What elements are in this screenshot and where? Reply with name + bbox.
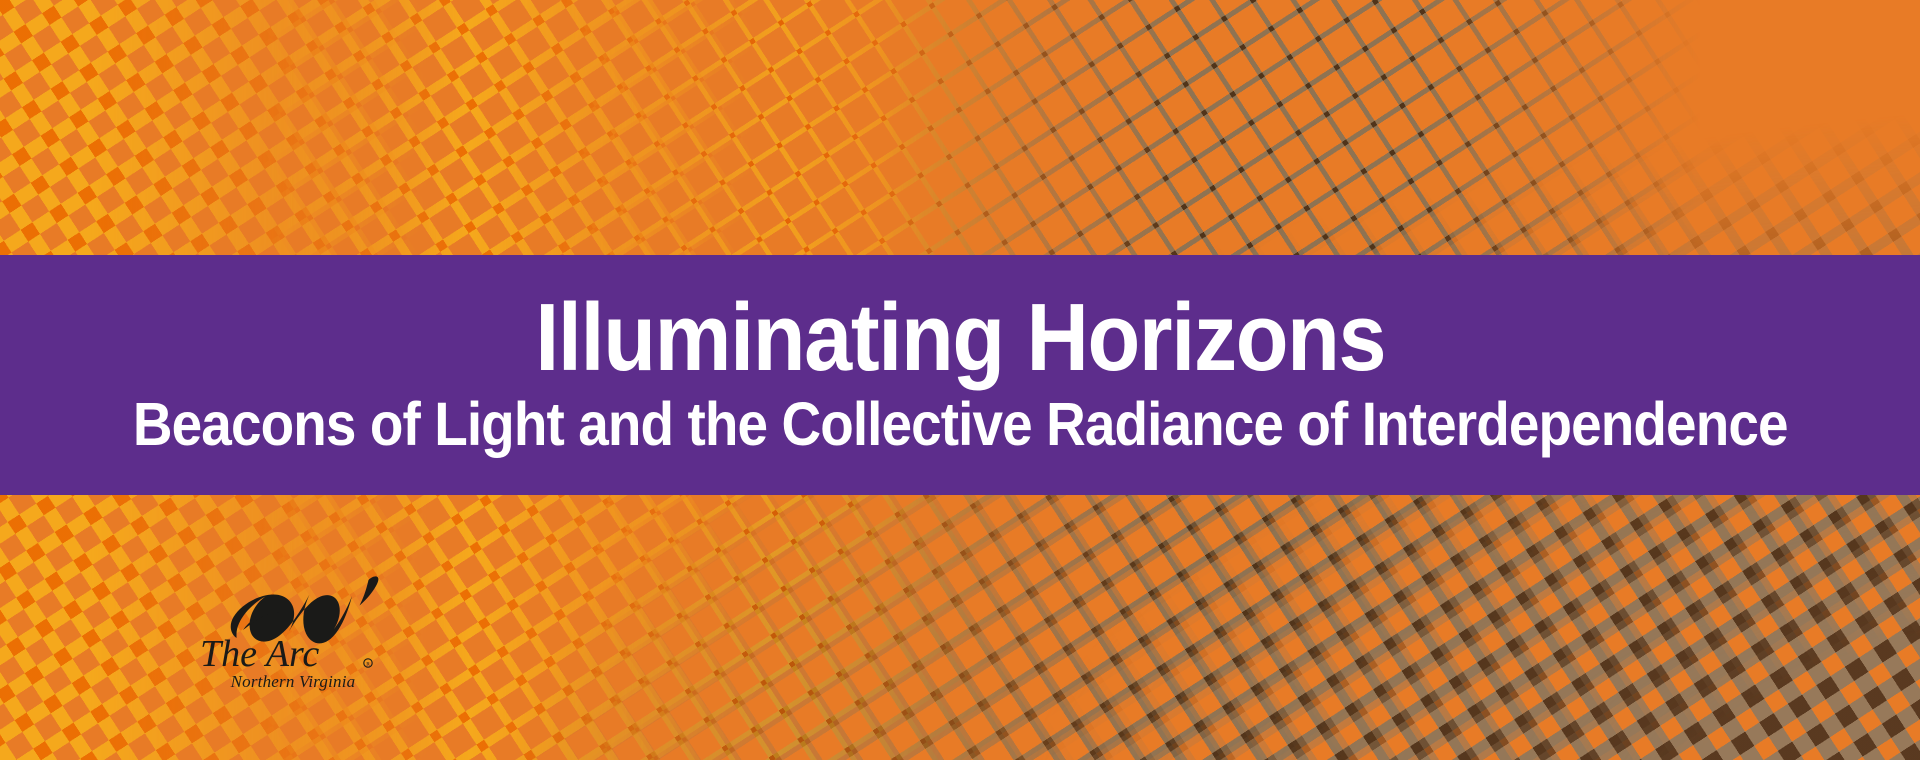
- page-title: Illuminating Horizons: [535, 289, 1385, 387]
- svg-text:R: R: [366, 662, 370, 668]
- the-arc-wordmark: The Arc R: [198, 634, 388, 676]
- organization-logo: The Arc R Northern Virginia: [198, 572, 388, 697]
- logo-chapter-name: Northern Virginia: [198, 672, 388, 692]
- title-band: Illuminating Horizons Beacons of Light a…: [0, 255, 1920, 495]
- svg-text:The Arc: The Arc: [200, 634, 319, 675]
- event-banner: Illuminating Horizons Beacons of Light a…: [0, 0, 1920, 760]
- page-subtitle: Beacons of Light and the Collective Radi…: [133, 393, 1788, 455]
